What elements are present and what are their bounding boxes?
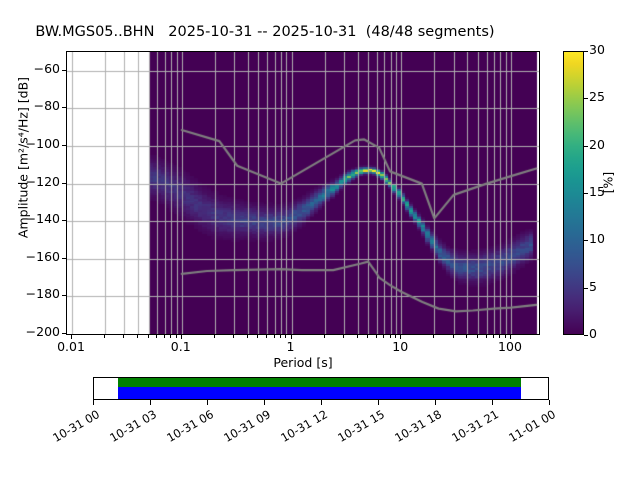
colorbar-tick-label: 30 xyxy=(589,42,629,57)
x-tick-label: 1 xyxy=(261,339,321,354)
x-minor-tick-mark xyxy=(505,335,506,338)
y-tick-mark xyxy=(62,295,66,296)
x-minor-tick-mark xyxy=(137,335,138,338)
x-minor-tick-mark xyxy=(123,335,124,338)
x-minor-tick-mark xyxy=(499,335,500,338)
x-minor-tick-mark xyxy=(433,335,434,338)
x-minor-tick-mark xyxy=(148,335,149,338)
x-tick-mark xyxy=(71,335,72,339)
x-minor-tick-mark xyxy=(376,335,377,338)
x-minor-tick-mark xyxy=(104,335,105,338)
timeline-tick-mark xyxy=(264,400,265,405)
x-minor-tick-mark xyxy=(214,335,215,338)
x-axis-label: Period [s] xyxy=(66,355,540,370)
x-minor-tick-mark xyxy=(390,335,391,338)
timeline-tick-label: 10-31 15 xyxy=(328,407,387,449)
x-minor-tick-mark xyxy=(156,335,157,338)
timeline-tick-mark xyxy=(207,400,208,405)
colorbar-tick-mark xyxy=(584,98,588,99)
y-tick-mark xyxy=(62,220,66,221)
timeline-tick-label: 10-31 03 xyxy=(100,407,159,449)
y-tick-label: −100 xyxy=(10,136,60,151)
colorbar-tick-label: 15 xyxy=(589,184,629,199)
y-tick-mark xyxy=(62,107,66,108)
x-minor-tick-mark xyxy=(383,335,384,338)
x-minor-tick-mark xyxy=(170,335,171,338)
x-minor-tick-mark xyxy=(367,335,368,338)
ppsd-figure: BW.MGS05..BHN 2025-10-31 -- 2025-10-31 (… xyxy=(0,0,640,480)
timeline-tick-label: 10-31 18 xyxy=(385,407,444,449)
colorbar xyxy=(563,51,584,335)
timeline-tick-label: 10-31 09 xyxy=(214,407,273,449)
timeline-tick-label: 10-31 12 xyxy=(271,407,330,449)
y-tick-label: −160 xyxy=(10,249,60,264)
ppsd-heatmap-canvas[interactable] xyxy=(67,52,539,334)
colorbar-tick-label: 20 xyxy=(589,137,629,152)
timeline-tick-label: 10-31 00 xyxy=(43,407,102,449)
timeline-tick-mark xyxy=(549,400,550,405)
colorbar-tick-mark xyxy=(584,51,588,52)
y-tick-mark xyxy=(62,258,66,259)
timeline-tick-label: 10-31 21 xyxy=(442,407,501,449)
y-tick-mark xyxy=(62,70,66,71)
timeline-axes[interactable] xyxy=(93,377,549,400)
timeline-tick-mark xyxy=(492,400,493,405)
x-tick-label: 0.01 xyxy=(41,339,101,354)
x-minor-tick-mark xyxy=(486,335,487,338)
x-minor-tick-mark xyxy=(274,335,275,338)
y-tick-label: −60 xyxy=(10,61,60,76)
colorbar-tick-mark xyxy=(584,146,588,147)
timeline-tick-mark xyxy=(378,400,379,405)
x-minor-tick-mark xyxy=(343,335,344,338)
timeline-segments-bar xyxy=(118,378,521,387)
x-minor-tick-mark xyxy=(357,335,358,338)
colorbar-tick-mark xyxy=(584,240,588,241)
timeline-tick-mark xyxy=(435,400,436,405)
colorbar-tick-label: 5 xyxy=(589,279,629,294)
x-minor-tick-mark xyxy=(280,335,281,338)
x-minor-tick-mark xyxy=(395,335,396,338)
x-tick-mark xyxy=(181,335,182,339)
x-tick-label: 0.1 xyxy=(151,339,211,354)
x-minor-tick-mark xyxy=(477,335,478,338)
x-minor-tick-mark xyxy=(257,335,258,338)
x-minor-tick-mark xyxy=(324,335,325,338)
timeline-coverage-bar xyxy=(118,387,521,399)
colorbar-tick-mark xyxy=(584,288,588,289)
y-tick-label: −200 xyxy=(10,324,60,339)
colorbar-tick-label: 25 xyxy=(589,89,629,104)
ppsd-plot-area[interactable] xyxy=(66,51,540,335)
timeline-tick-mark xyxy=(321,400,322,405)
x-minor-tick-mark xyxy=(285,335,286,338)
x-minor-tick-mark xyxy=(493,335,494,338)
x-tick-mark xyxy=(291,335,292,339)
y-tick-label: −180 xyxy=(10,286,60,301)
y-tick-label: −120 xyxy=(10,174,60,189)
colorbar-tick-mark xyxy=(584,335,588,336)
timeline-tick-mark xyxy=(93,400,94,405)
timeline-tick-label: 11-01 00 xyxy=(499,407,558,449)
y-tick-mark xyxy=(62,333,66,334)
x-minor-tick-mark xyxy=(233,335,234,338)
colorbar-tick-label: 0 xyxy=(589,326,629,341)
x-minor-tick-mark xyxy=(453,335,454,338)
y-tick-mark xyxy=(62,145,66,146)
figure-title: BW.MGS05..BHN 2025-10-31 -- 2025-10-31 (… xyxy=(0,24,585,40)
x-tick-label: 10 xyxy=(370,339,430,354)
x-tick-label: 100 xyxy=(480,339,540,354)
timeline-tick-mark xyxy=(150,400,151,405)
x-minor-tick-mark xyxy=(247,335,248,338)
colorbar-tick-mark xyxy=(584,193,588,194)
x-minor-tick-mark xyxy=(164,335,165,338)
x-minor-tick-mark xyxy=(466,335,467,338)
x-minor-tick-mark xyxy=(266,335,267,338)
x-tick-mark xyxy=(510,335,511,339)
y-tick-mark xyxy=(62,183,66,184)
y-tick-label: −80 xyxy=(10,98,60,113)
timeline-tick-label: 10-31 06 xyxy=(157,407,216,449)
x-minor-tick-mark xyxy=(176,335,177,338)
x-tick-mark xyxy=(400,335,401,339)
colorbar-tick-label: 10 xyxy=(589,231,629,246)
y-tick-label: −140 xyxy=(10,211,60,226)
